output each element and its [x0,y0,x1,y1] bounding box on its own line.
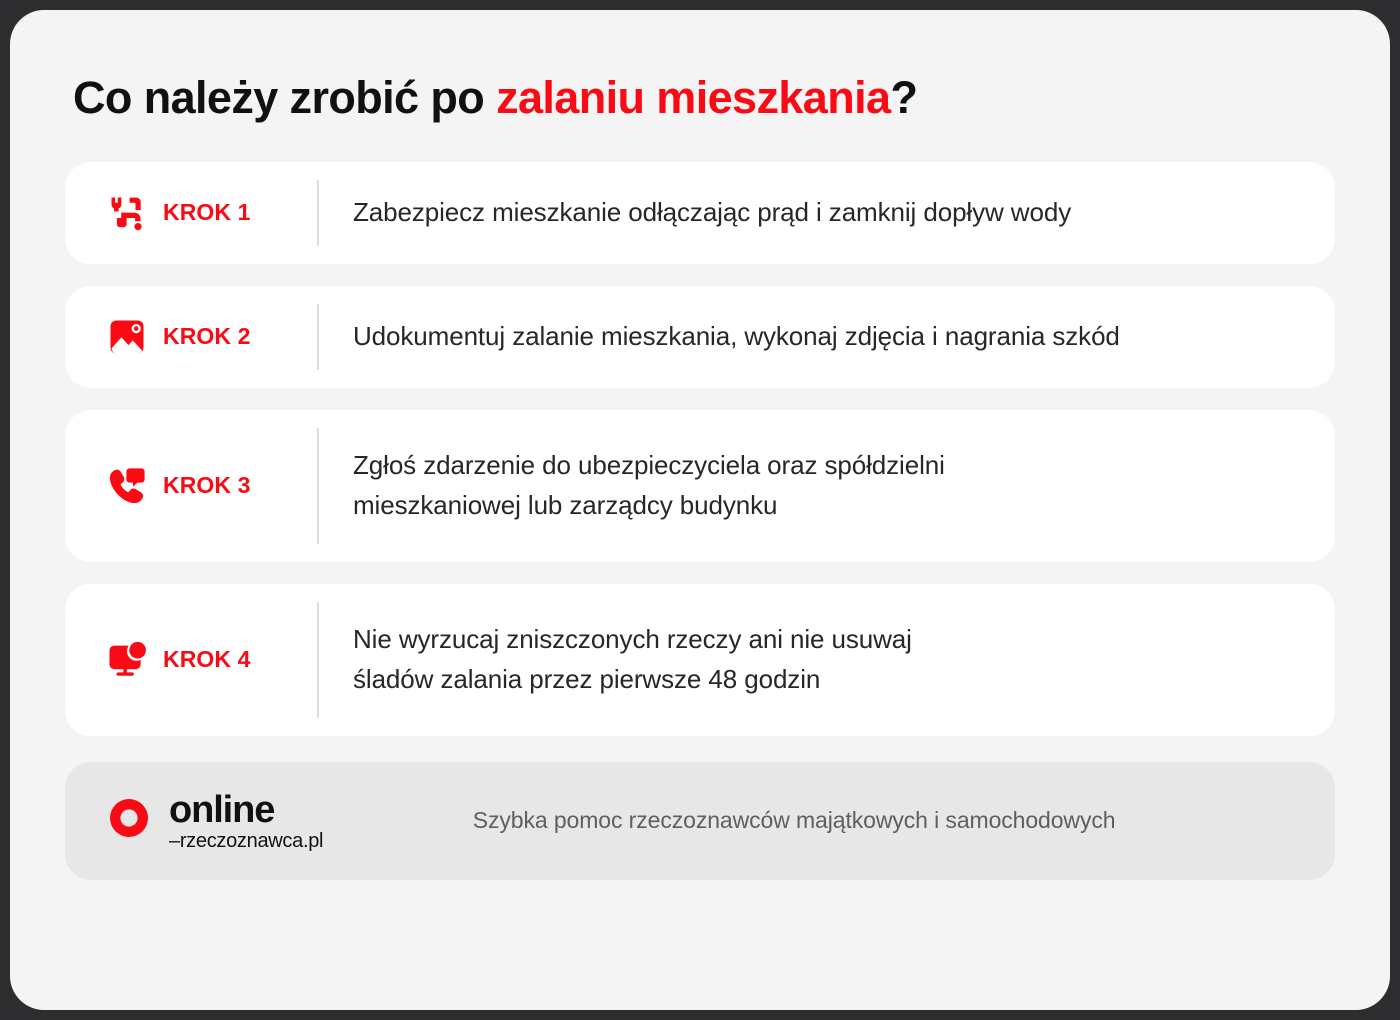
step-card-2[interactable]: KROK 2 Udokumentuj zalanie mieszkania, w… [65,286,1335,388]
brand-domain: –rzeczoznawca.pl [169,831,323,851]
title-part-black: Co należy zrobić po [73,72,496,123]
infographic-frame: Co należy zrobić po zalaniu mieszkania? … [10,10,1390,1010]
step-3-label: KROK 3 [163,472,251,499]
title-part-highlight: zalaniu mieszkania [496,72,890,123]
step-1-text: Zabezpiecz mieszkanie odłączając prąd i … [319,193,1071,233]
brand-logo[interactable]: online –rzeczoznawca.pl [105,791,323,851]
plumbing-tools-icon [105,191,149,235]
photo-image-icon [105,315,149,359]
footer-tagline: Szybka pomoc rzeczoznawców majątkowych i… [323,807,1295,834]
step-3-text: Zgłoś zdarzenie do ubezpieczyciela oraz … [319,446,945,525]
step-2-label: KROK 2 [163,323,251,350]
step-2-line-1: Udokumentuj zalanie mieszkania, wykonaj … [353,317,1120,357]
q-logo-icon [105,795,157,847]
step-4-text: Nie wyrzucaj zniszczonych rzeczy ani nie… [319,620,912,699]
step-1-line-1: Zabezpiecz mieszkanie odłączając prąd i … [353,193,1071,233]
infographic-body: Co należy zrobić po zalaniu mieszkania? … [10,10,1390,1010]
title-question-mark: ? [890,72,917,123]
monitor-damage-icon [105,638,149,682]
step-1-label: KROK 1 [163,199,251,226]
step-4-line-2: śladów zalania przez pierwsze 48 godzin [353,660,912,700]
step-card-3[interactable]: KROK 3 Zgłoś zdarzenie do ubezpieczyciel… [65,410,1335,562]
step-3-line-2: mieszkaniowej lub zarządcy budynku [353,486,945,526]
step-3-header: KROK 3 [99,464,317,508]
brand-name: online [169,791,323,829]
step-2-header: KROK 2 [99,315,317,359]
phone-call-icon [105,464,149,508]
step-card-1[interactable]: KROK 1 Zabezpiecz mieszkanie odłączając … [65,162,1335,264]
step-4-label: KROK 4 [163,646,251,673]
step-3-line-1: Zgłoś zdarzenie do ubezpieczyciela oraz … [353,446,945,486]
step-1-header: KROK 1 [99,191,317,235]
steps-list: KROK 1 Zabezpiecz mieszkanie odłączając … [65,162,1335,736]
brand-logo-text: online –rzeczoznawca.pl [169,791,323,851]
step-4-line-1: Nie wyrzucaj zniszczonych rzeczy ani nie… [353,620,912,660]
page-title: Co należy zrobić po zalaniu mieszkania? [65,10,1335,124]
footer-bar: online –rzeczoznawca.pl Szybka pomoc rze… [65,762,1335,880]
step-2-text: Udokumentuj zalanie mieszkania, wykonaj … [319,317,1120,357]
step-card-4[interactable]: KROK 4 Nie wyrzucaj zniszczonych rzeczy … [65,584,1335,736]
step-4-header: KROK 4 [99,638,317,682]
